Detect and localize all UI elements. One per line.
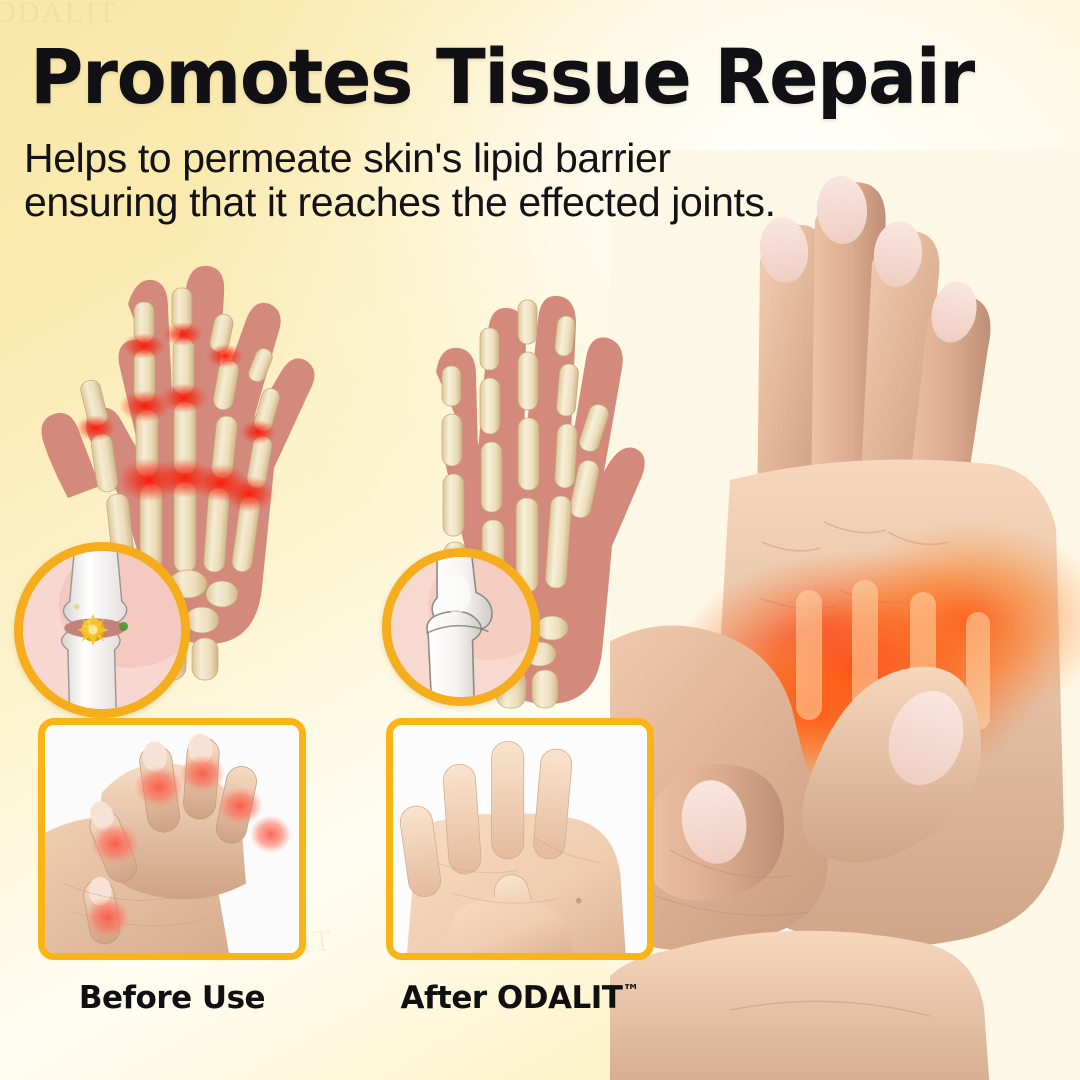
- watermark-text-1: ODALIT: [0, 0, 118, 30]
- trademark-symbol: ™: [622, 982, 639, 1002]
- hero-photo: [610, 150, 1080, 1080]
- page-subtitle: Helps to permeate skin's lipid barrier e…: [24, 136, 804, 224]
- promo-graphic-canvas: ODALIT ODALIT ODALIT: [0, 0, 1080, 1080]
- before-use-label: Before Use: [38, 980, 306, 1016]
- after-odalit-label-text: After ODALIT: [401, 980, 623, 1016]
- after-photo-card: [386, 718, 654, 960]
- before-use-label-text: Before Use: [79, 980, 265, 1016]
- before-photo-card: [38, 718, 306, 960]
- page-title: Promotes Tissue Repair: [30, 38, 980, 116]
- healthy-joint-inset: [382, 548, 540, 706]
- inflamed-joint-inset: [14, 542, 190, 718]
- after-odalit-label: After ODALIT™: [386, 980, 654, 1016]
